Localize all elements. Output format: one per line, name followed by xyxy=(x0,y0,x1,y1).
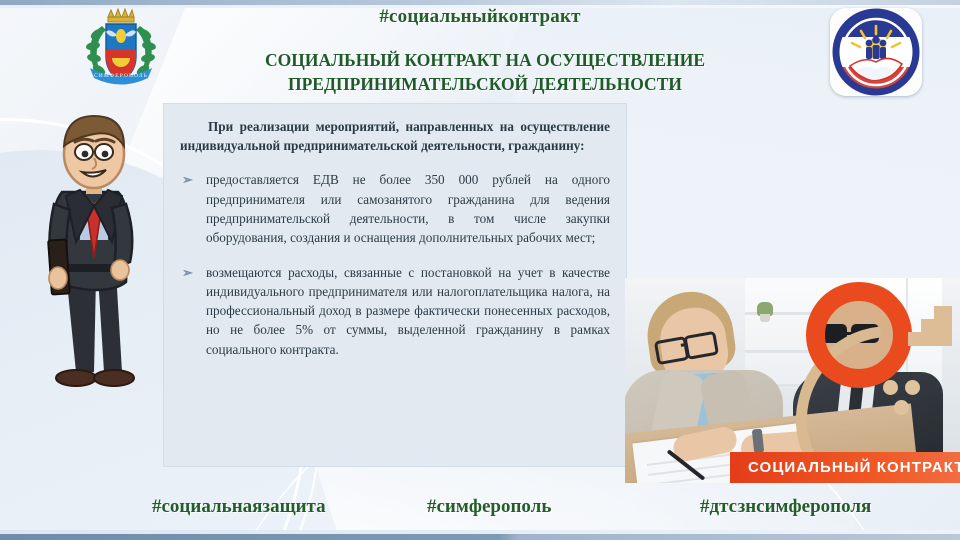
footer-hashtag-2: #симферополь xyxy=(427,496,551,518)
orange-ring-graphic xyxy=(806,282,912,388)
page-title-line2: ПРЕДПРИНИМАТЕЛЬСКОЙ ДЕЯТЕЛЬНОСТИ xyxy=(200,72,770,96)
footer-hashtags: #социальнаязащита #симферополь #дтсзнсим… xyxy=(0,496,960,526)
bullet-list: ➢ предоставляется ЕДВ не более 350 000 р… xyxy=(164,170,626,358)
cartoon-businessman-illustration xyxy=(24,112,154,397)
arrow-bullet-icon: ➢ xyxy=(182,171,193,190)
list-item: ➢ возмещаются расходы, связанные с поста… xyxy=(180,263,610,359)
bottom-border-bar-secondary xyxy=(0,530,960,534)
photo-plant xyxy=(757,302,773,316)
beige-stairs-graphic xyxy=(908,306,952,346)
content-panel: При реализации мероприятий, направленных… xyxy=(163,103,627,467)
page-title-line1: СОЦИАЛЬНЫЙ КОНТРАКТ НА ОСУЩЕСТВЛЕНИЕ xyxy=(200,48,770,72)
list-item-text: возмещаются расходы, связанные с постано… xyxy=(206,265,610,357)
list-item-text: предоставляется ЕДВ не более 350 000 руб… xyxy=(206,172,610,245)
footer-hashtag-3: #дтсзнсимферополя xyxy=(700,496,871,518)
bottom-border-bar xyxy=(0,534,960,540)
footer-hashtag-1: #социальнаязащита xyxy=(152,496,326,518)
list-item: ➢ предоставляется ЕДВ не более 350 000 р… xyxy=(180,170,610,247)
ministry-emblem-icon xyxy=(830,8,922,96)
office-photo: СОЦИАЛЬНЫЙ КОНТРАКТ xyxy=(625,278,960,483)
page-title: СОЦИАЛЬНЫЙ КОНТРАКТ НА ОСУЩЕСТВЛЕНИЕ ПРЕ… xyxy=(200,48,770,96)
photo-caption-text: СОЦИАЛЬНЫЙ КОНТРАКТ xyxy=(748,459,960,476)
coat-of-arms-icon: СИМФЕРОПОЛЬ xyxy=(72,8,170,96)
header-hashtag: #социальныйконтракт xyxy=(250,6,710,28)
intro-paragraph: При реализации мероприятий, направленных… xyxy=(180,118,610,155)
photo-caption-banner: СОЦИАЛЬНЫЙ КОНТРАКТ xyxy=(730,452,960,483)
svg-text:СИМФЕРОПОЛЬ: СИМФЕРОПОЛЬ xyxy=(94,73,148,79)
slide-root: СИМФЕРОПОЛЬ #социальныйконтракт СОЦИАЛЬН… xyxy=(0,0,960,540)
arrow-bullet-icon: ➢ xyxy=(182,264,193,283)
